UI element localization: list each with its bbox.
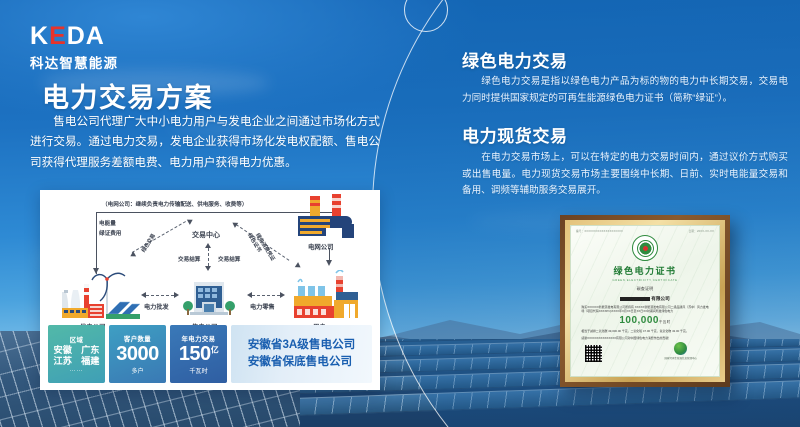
diagram-retail-line (252, 295, 280, 296)
stat-annual-number: 150 (179, 343, 211, 365)
certificate-seal-icon (632, 235, 658, 261)
certificate-body-1: 购买XXXXXX新能源发电有限公司所持有 XXXXX新能源发电有限公司二级品通风… (581, 305, 708, 314)
stat-customers-value: 3000 (116, 344, 159, 364)
diagram-wholesale-line (146, 295, 174, 296)
poster-canvas: KEDA 科达智慧能源 电力交易方案 售电公司代理广大中小电力用户与发电企业之间… (0, 0, 800, 427)
badge-watermark: KEDA (231, 325, 235, 383)
certificate-paper: 编号：XXXXXXXXXXXXXXXXXXXX 日期：20XX-XX-XX 绿色… (570, 225, 720, 377)
logo-letter-e: E (49, 22, 67, 50)
issuer-logo-caption: 国家可再生能源信息管理中心 (664, 356, 697, 360)
stat-annual-trading: 年电力交易 150亿 千瓦时 (170, 325, 227, 383)
icon-electricity-seller (180, 278, 238, 320)
certificate-date: 日期：20XX-XX-XX (689, 229, 714, 233)
stat-customers-unit: 多户 (131, 366, 143, 375)
certificate-amount: 100,000千瓦时 (619, 315, 670, 326)
stat-annual-caption: 年电力交易 (182, 334, 216, 343)
logo-letters-da: DA (67, 22, 105, 50)
certificate-company: 有限公司 (620, 296, 669, 302)
diagram-arrow-grid-to-user (326, 260, 332, 266)
diagram-energy-label-1: 电能量 (99, 219, 116, 227)
diagram-top-line-down (96, 212, 97, 274)
section-heading-green-trading: 绿色电力交易 (462, 47, 568, 72)
logo-wordmark: KEDA (30, 24, 118, 49)
diagram-arrow-up-center (205, 243, 211, 248)
diagram-energy-label-2: 绿证费用 (99, 229, 121, 237)
stats-bar: 区域 安徽 广东 江苏 福建 …… 客户数量 3000 多户 年电力交易 150… (48, 325, 372, 383)
diagram-settle-left: 交易结算 (178, 255, 200, 263)
logo-subtitle: 科达智慧能源 (30, 52, 118, 72)
section-body-spot-trading: 在电力交易市场上，可以在特定的电力交易时间内，通过议价方式购买或出售电量。电力现… (462, 150, 788, 200)
certificate-amount-unit: 千瓦时 (659, 320, 671, 324)
certificate-amount-value: 100,000 (619, 315, 659, 326)
diagram-card: （电网公司：继续负责电力传输配送、供电服务、收费等） 电能量 绿证费用 交易中心… (40, 190, 380, 390)
certificate-gold-border: 编号：XXXXXXXXXXXXXXXXXXXX 日期：20XX-XX-XX 绿色… (565, 220, 725, 382)
diagram-center-title: 交易中心 (192, 230, 220, 240)
stat-customers: 客户数量 3000 多户 (109, 325, 166, 383)
stat-region-dots: …… (70, 367, 84, 373)
certificate-company-suffix: 有限公司 (651, 296, 669, 301)
stat-annual-unit: 千瓦时 (189, 366, 208, 375)
badge-line-1: 安徽省3A级售电公司 (248, 337, 356, 354)
diagram-grid-note: （电网公司：继续负责电力传输配送、供电服务、收费等） (102, 200, 247, 208)
page-title: 电力交易方案 (42, 76, 213, 115)
diagram-arrow-wholesale-right (174, 292, 179, 298)
intro-paragraph: 售电公司代理广大中小电力用户与发电企业之间通过市场化方式进行交易。通过电力交易，… (30, 112, 380, 173)
logo-letter-k: K (30, 22, 49, 50)
diagram-arrow-green-cert-back (231, 220, 239, 228)
diagram-arrow-down-center (205, 266, 211, 271)
badge-text: 安徽省3A级售电公司 安徽省保底售电公司 (248, 337, 356, 371)
stat-region-line1: 安徽 广东 (54, 345, 100, 356)
qualification-badge: KEDA 安徽省3A级售电公司 安徽省保底售电公司 (231, 325, 372, 383)
stat-region: 区域 安徽 广东 江苏 福建 …… (48, 325, 105, 383)
certificate-serial: 编号：XXXXXXXXXXXXXXXXXXXX (576, 229, 623, 233)
diagram-arrow-green-cert (295, 262, 303, 270)
diagram-arrow-green-trade (187, 217, 194, 225)
stat-customers-caption: 客户数量 (124, 334, 151, 343)
certificate-subtitle: GREEN ELECTRICITY CERTIFICATE (612, 278, 677, 282)
stat-region-line2: 江苏 福建 (54, 356, 100, 367)
diagram-settle-connector (208, 248, 209, 266)
section-heading-spot-trading: 电力现货交易 (462, 122, 568, 147)
certificate-body-3: 感谢XXXXXXXXXXXXXXX有限公司对中国绿色电力消费作出的贡献！ (581, 336, 708, 340)
diagram-node-grid-label: 电网公司 (308, 242, 334, 251)
icon-grid-company (288, 194, 356, 240)
icon-power-generation (62, 268, 140, 320)
icon-end-user (292, 270, 360, 320)
diagram-flow-retail-label: 电力零售 (250, 302, 275, 311)
diagram-arrow-wholesale-left (141, 292, 146, 298)
green-certificate-frame: 编号：XXXXXXXXXXXXXXXXXXXX 日期：20XX-XX-XX 绿色… (560, 215, 730, 387)
diagram-flow-wholesale-label: 电力批发 (144, 302, 169, 311)
stat-region-caption: 区域 (70, 335, 84, 344)
certificate-title: 绿色电力证书 (613, 264, 676, 277)
diagram-arrow-retail-right (280, 292, 285, 298)
brand-logo: KEDA 科达智慧能源 (30, 24, 118, 72)
stat-annual-sup: 亿 (211, 345, 219, 354)
certificate-body-2: 相当于减排二氧化碳 49,000.00 千克，二氧化硫 47.00 千克，氮氧化… (581, 329, 708, 333)
section-body-green-trading: 绿色电力交易是指以绿色电力产品为标的物的电力中长期交易，交易电力同时提供国家规定… (462, 74, 788, 107)
certificate-header: 编号：XXXXXXXXXXXXXXXXXXXX 日期：20XX-XX-XX (571, 226, 719, 233)
diagram-settle-right: 交易结算 (218, 255, 240, 263)
stat-annual-value: 150亿 (179, 344, 218, 364)
certificate-qr-code (585, 345, 602, 362)
certificate-company-redaction (620, 297, 650, 301)
diagram-arrow-retail-left (247, 292, 252, 298)
issuer-logo-icon (674, 342, 687, 355)
certificate-issuer-logo: 国家可再生能源信息管理中心 (664, 342, 697, 361)
badge-line-2: 安徽省保底售电公司 (248, 354, 356, 371)
diagram-arrow-green-trade-back (129, 251, 136, 259)
certificate-kind: 碳查证明 (637, 286, 654, 292)
diagram-green-trade-label: 绿色交易 (140, 232, 157, 253)
